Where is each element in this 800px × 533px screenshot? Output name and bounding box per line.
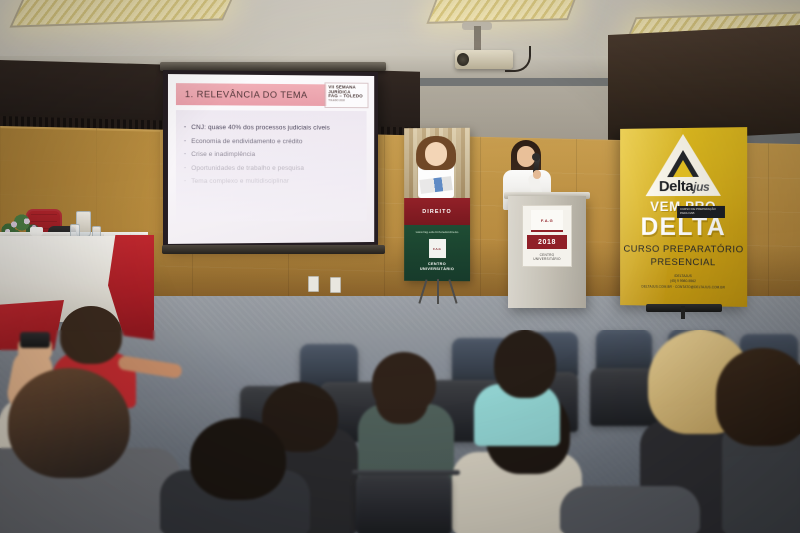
banner-direito-tripod (418, 279, 458, 305)
podium-year: 2018 (527, 235, 567, 249)
banner-institution-line1: CENTRO (428, 262, 446, 266)
slide-title: 1. RELEVÂNCIA DO TEMA (185, 89, 308, 101)
delta-contact-block: /DELTAJUS (45) 9 9980-5562 DELTAJUS.COM.… (620, 273, 747, 291)
bullet-dash: - (184, 178, 186, 185)
bullet-dash: - (184, 164, 186, 171)
auditorium-photo: 1. RELEVÂNCIA DO TEMA VII SEMANA JURÍDIC… (0, 0, 800, 533)
banner-institution-line2: UNIVERSITÁRIO (420, 267, 454, 271)
event-logo: VII SEMANA JURÍDICA FAG – TOLEDO TOLEDO … (325, 82, 369, 108)
banner-institution-name: CENTRO UNIVERSITÁRIO (420, 262, 454, 272)
smartphone-icon (20, 332, 50, 348)
bullet-text: Oportunidades de trabalho e pesquisa (191, 164, 304, 171)
event-logo-sub: TOLEDO 2018 (328, 100, 365, 103)
audience-head (8, 368, 130, 478)
slide-bullet: - Economia de endividamento e crédito (184, 138, 361, 145)
bullet-text: Tema complexo e multidisciplinar (191, 178, 289, 185)
delta-contact-social: /DELTAJUS (674, 274, 692, 278)
bullet-text: CNJ: quase 40% dos processos judiciais c… (191, 124, 330, 131)
slide-bullet: - Crise e inadimplência (184, 151, 361, 158)
audience-top (560, 486, 700, 533)
delta-brand: Deltajus (649, 178, 719, 195)
bullet-dash: - (184, 124, 186, 131)
acoustic-panel-right (608, 25, 800, 143)
podium-institution: CENTRO UNIVERSITÁRIO (533, 253, 560, 262)
projection-screen: 1. RELEVÂNCIA DO TEMA VII SEMANA JURÍDIC… (163, 70, 378, 247)
slide-bullet: - CNJ: quase 40% dos processos judiciais… (184, 124, 361, 132)
banner-course-label: DIREITO (422, 208, 451, 214)
audience-hair (716, 348, 800, 446)
delta-contact-web: DELTAJUS.COM.BR · CONTATO@DELTAJUS.COM.B… (642, 284, 726, 289)
delta-contact-phone: (45) 9 9980-5562 (670, 279, 696, 283)
bullet-dash: - (184, 151, 186, 158)
projector-mount-pole (474, 26, 481, 52)
slide-title-band: 1. RELEVÂNCIA DO TEMA (176, 83, 326, 106)
podium-institution-line2: UNIVERSITÁRIO (533, 257, 560, 261)
slide-bullet-list: - CNJ: quase 40% dos processos judiciais… (176, 110, 367, 222)
seat-empty (356, 474, 452, 533)
audience-hair (494, 330, 556, 398)
banner-deltajus: Deltajus VEM PRO DELTA CURSO DE PREPARAÇ… (620, 127, 747, 307)
projector-lens (457, 53, 469, 66)
delta-brand-main: Delta (659, 178, 693, 195)
audience-hair (60, 306, 122, 364)
delta-subtitle-line1: CURSO PREPARATÓRIO (623, 244, 743, 256)
slide-bullet: - Tema complexo e multidisciplinar (184, 178, 361, 185)
banner-student-face (425, 142, 447, 166)
fag-logo-text: F.A.G (433, 246, 441, 250)
bullet-text: Economia de endividamento e crédito (191, 138, 302, 145)
wall-outlet-a (308, 276, 319, 292)
screen-bottom-weight-bar (162, 245, 385, 254)
microphone-head (532, 153, 540, 161)
banner-url: www.fag.edu.br/toledo/direito (416, 230, 459, 234)
speaker-hand (533, 170, 541, 179)
banner-institution-band: www.fag.edu.br/toledo/direito F.A.G CENT… (404, 225, 470, 281)
banner-deltajus-leg (681, 306, 685, 319)
podium-plaque: F.A.G 2018 CENTRO UNIVERSITÁRIO (522, 205, 572, 267)
banner-photo-library (404, 128, 470, 198)
audience-head (190, 418, 286, 500)
delta-subtitle-line2: PRESENCIAL (651, 257, 716, 268)
ceiling-light-panel-center (426, 0, 577, 24)
bullet-text: Crise e inadimplência (191, 151, 255, 158)
delta-subtitle: CURSO PREPARATÓRIO PRESENCIAL (620, 244, 747, 271)
presentation-slide: 1. RELEVÂNCIA DO TEMA VII SEMANA JURÍDIC… (168, 74, 374, 244)
podium: F.A.G 2018 CENTRO UNIVERSITÁRIO (508, 196, 586, 308)
wall-outlet-b (330, 277, 341, 293)
banner-direito: DIREITO www.fag.edu.br/toledo/direito F.… (404, 128, 470, 281)
fag-logo-icon: F.A.G (429, 239, 446, 258)
seat-armrest (352, 470, 460, 475)
podium-fag-logo-icon: F.A.G (531, 210, 563, 232)
podium-fag-text: F.A.G (541, 218, 553, 223)
delta-logo-inner (673, 160, 693, 177)
delta-tag-note: CURSO DE PREPARAÇÃO PARA OAB (677, 206, 725, 218)
delta-brand-italic: jus (693, 180, 709, 194)
slide-bullet: - Oportunidades de trabalho e pesquisa (184, 164, 361, 171)
bullet-dash: - (184, 138, 186, 145)
banner-course-band: DIREITO (404, 198, 470, 225)
